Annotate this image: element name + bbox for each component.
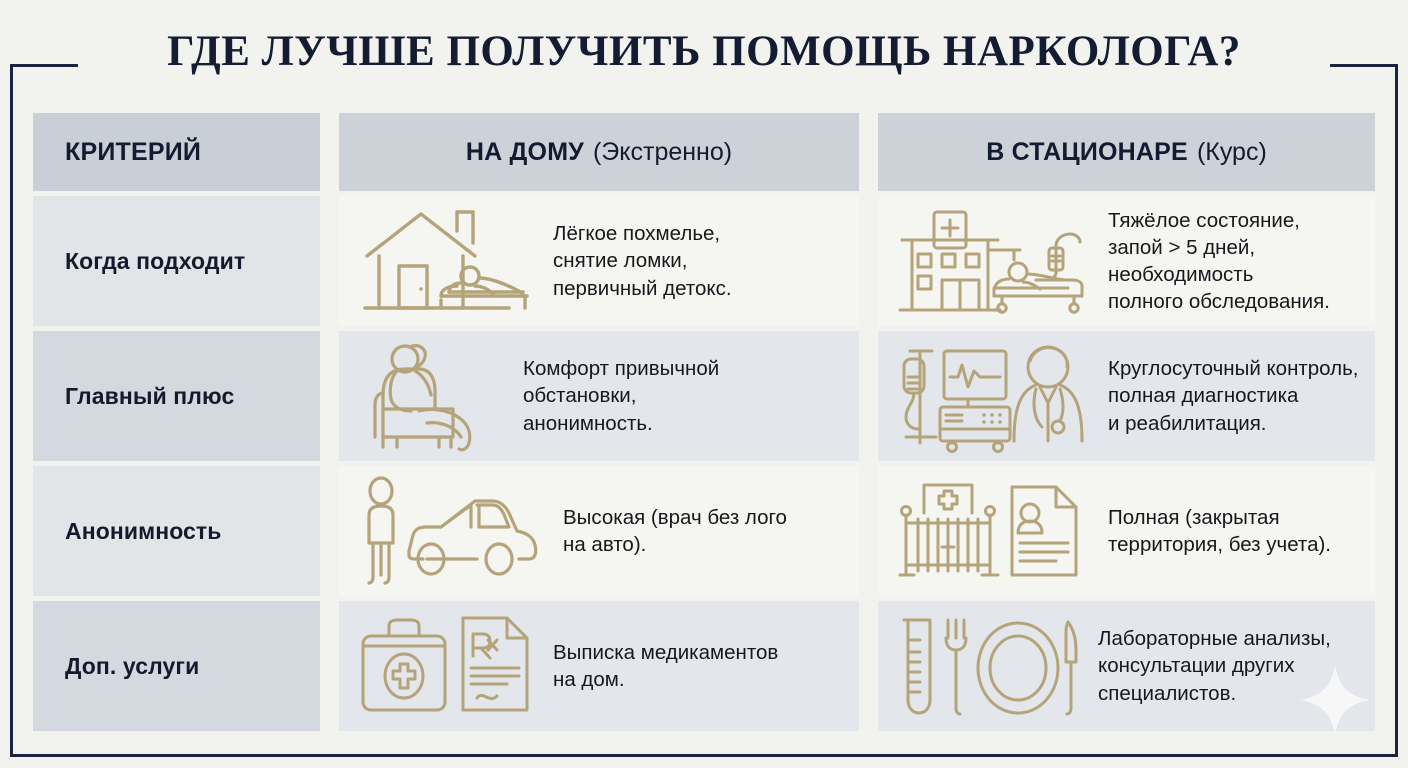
home-description: Комфорт привычной обстановки, анонимност…	[523, 355, 719, 437]
criteria-cell: Анонимность	[33, 466, 320, 596]
table-row: Когда подходит	[33, 196, 1375, 326]
criteria-label: Когда подходит	[33, 196, 320, 326]
column-gap	[859, 331, 878, 461]
hospital-cell: Тяжёлое состояние, запой > 5 дней, необх…	[878, 196, 1375, 326]
hospital-cell: Круглосуточный контроль, полная диагност…	[878, 331, 1375, 461]
home-description: Высокая (врач без лого на авто).	[563, 504, 787, 559]
column-gap	[320, 331, 339, 461]
comparison-table: КРИТЕРИЙ НА ДОМУ (Экстренно) В СТАЦИОНАР…	[33, 113, 1375, 731]
home-cell: Комфорт привычной обстановки, анонимност…	[339, 331, 859, 461]
frame-left-edge	[10, 64, 13, 754]
home-description: Выписка медикаментов на дом.	[553, 639, 778, 694]
header-home-sublabel: (Экстренно)	[593, 138, 732, 167]
iv-stand-ecg-monitor-doctor-icon	[896, 337, 1092, 455]
column-gap	[320, 113, 339, 191]
column-gap	[859, 196, 878, 326]
criteria-cell: Главный плюс	[33, 331, 320, 461]
frame-right-edge	[1395, 64, 1398, 754]
page-title: ГДЕ ЛУЧШЕ ПОЛУЧИТЬ ПОМОЩЬ НАРКОЛОГА?	[0, 20, 1408, 82]
table-row: Анонимность	[33, 466, 1375, 596]
frame-bottom-edge	[10, 754, 1398, 757]
table-row: Главный плюс	[33, 331, 1375, 461]
column-gap	[320, 196, 339, 326]
header-cell-criteria: КРИТЕРИЙ	[33, 113, 320, 191]
hospital-description: Полная (закрытая территория, без учета).	[1108, 504, 1331, 559]
home-cell: Лёгкое похмелье, снятие ломки, первичный…	[339, 196, 859, 326]
header-criteria-label: КРИТЕРИЙ	[65, 138, 201, 167]
table-row: Доп. услуги	[33, 601, 1375, 731]
house-with-patient-on-bed-icon	[357, 204, 537, 319]
header-cell-hospital: В СТАЦИОНАРЕ (Курс)	[878, 113, 1375, 191]
test-tube-and-cutlery-plate-icon	[896, 612, 1082, 720]
home-description: Лёгкое похмелье, снятие ломки, первичный…	[553, 220, 732, 302]
fenced-territory-and-patient-record-icon	[896, 475, 1092, 587]
sparkle-icon	[1298, 663, 1372, 742]
table-header-row: КРИТЕРИЙ НА ДОМУ (Экстренно) В СТАЦИОНАР…	[33, 113, 1375, 191]
column-gap	[859, 113, 878, 191]
criteria-label: Главный плюс	[33, 331, 320, 461]
hospital-cell: Полная (закрытая территория, без учета).	[878, 466, 1375, 596]
column-gap	[320, 466, 339, 596]
person-beside-car-icon	[357, 475, 547, 587]
hospital-description: Тяжёлое состояние, запой > 5 дней, необх…	[1108, 207, 1330, 316]
hospital-description: Круглосуточный контроль, полная диагност…	[1108, 355, 1358, 437]
column-gap	[859, 601, 878, 731]
home-cell: Высокая (врач без лого на авто).	[339, 466, 859, 596]
column-gap	[320, 601, 339, 731]
home-cell: Выписка медикаментов на дом.	[339, 601, 859, 731]
hospital-building-with-patient-bed-iv-icon	[896, 202, 1092, 320]
criteria-cell: Когда подходит	[33, 196, 320, 326]
hospital-description: Лабораторные анализы, консультации други…	[1098, 625, 1331, 707]
header-hospital-label: В СТАЦИОНАРЕ	[986, 138, 1188, 167]
person-relaxing-in-armchair-icon	[357, 337, 507, 455]
header-home-label: НА ДОМУ	[466, 138, 584, 167]
column-gap	[859, 466, 878, 596]
criteria-label: Доп. услуги	[33, 601, 320, 731]
header-hospital-sublabel: (Курс)	[1197, 138, 1267, 167]
header-cell-home: НА ДОМУ (Экстренно)	[339, 113, 859, 191]
first-aid-kit-and-rx-prescription-icon	[357, 612, 537, 720]
criteria-label: Анонимность	[33, 466, 320, 596]
criteria-cell: Доп. услуги	[33, 601, 320, 731]
